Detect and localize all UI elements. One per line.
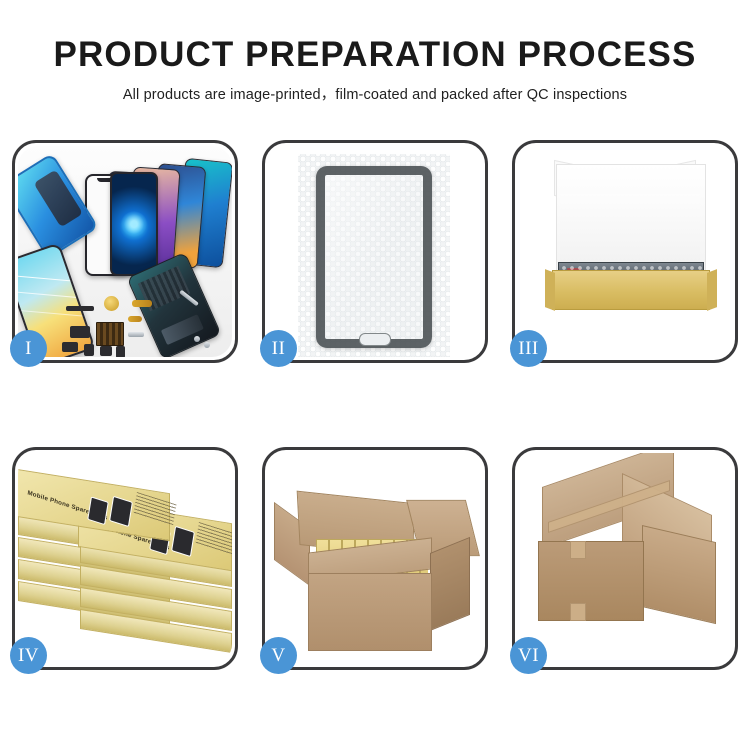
box-label-phone-image-2 — [171, 526, 195, 557]
step-1-badge: I — [10, 330, 47, 367]
process-step-1: I — [12, 140, 238, 363]
sealed-carton-side-panel — [642, 525, 716, 624]
product-preparation-infographic: PRODUCT PREPARATION PROCESS All products… — [0, 0, 750, 750]
bubble-wrap-sheet — [298, 154, 450, 357]
page-subtitle: All products are image-printed，film-coat… — [0, 85, 750, 105]
step-1-photo — [18, 146, 232, 357]
process-step-2: II — [262, 140, 488, 363]
phone-jellyfish-wallpaper — [110, 172, 158, 276]
box-stack: Mobile Phone Spare Parts Mobile Phone Sp… — [18, 471, 232, 661]
part-bracket — [128, 332, 144, 337]
carton-tape-front-bottom — [570, 603, 586, 621]
step-3-photo — [518, 146, 732, 357]
part-chip-array — [96, 322, 124, 346]
step-2-badge: II — [260, 330, 297, 367]
part-camera-module — [100, 346, 112, 356]
box-label-spec-lines-back — [134, 492, 177, 526]
process-step-5: V — [262, 447, 488, 670]
process-step-4: Mobile Phone Spare Parts Mobile Phone Sp… — [12, 447, 238, 670]
part-connector-1 — [70, 326, 90, 338]
part-connector-2 — [62, 342, 78, 352]
process-step-3: III — [512, 140, 738, 363]
step-2-photo — [268, 146, 482, 357]
part-speaker-gold — [104, 296, 119, 311]
process-step-6: VI — [512, 447, 738, 670]
step-5-badge: V — [260, 637, 297, 674]
step-4-photo: Mobile Phone Spare Parts Mobile Phone Sp… — [18, 453, 232, 664]
part-button-set — [84, 344, 94, 356]
box-label-spec-lines-front — [196, 522, 232, 556]
sealed-carton-front-panel — [538, 541, 644, 621]
box-label-phone-image-4 — [109, 496, 133, 527]
box-label-phone-image-3 — [87, 496, 109, 525]
process-row-2: Mobile Phone Spare Parts Mobile Phone Sp… — [12, 447, 738, 670]
part-vibrator — [116, 346, 125, 357]
carton-tape-front-top — [570, 541, 586, 559]
part-flex-cable-2 — [128, 316, 142, 322]
step-6-badge: VI — [510, 637, 547, 674]
step-4-badge: IV — [10, 637, 47, 674]
part-screw-2 — [204, 342, 210, 348]
step-3-badge: III — [510, 330, 547, 367]
step-6-photo — [518, 453, 732, 664]
phone-glass-screen — [316, 166, 432, 348]
header: PRODUCT PREPARATION PROCESS All products… — [0, 0, 750, 105]
process-step-grid: I II — [12, 140, 738, 670]
step-5-photo — [268, 453, 482, 664]
carton-front-panel — [308, 573, 432, 651]
glass-gloss-highlight — [325, 175, 423, 339]
process-row-1: I II — [12, 140, 738, 363]
carton-side-panel — [430, 537, 470, 631]
page-title: PRODUCT PREPARATION PROCESS — [0, 35, 750, 75]
part-flex-cable-1 — [132, 300, 152, 307]
kraft-box-base — [552, 270, 710, 310]
part-antenna-strip — [66, 306, 94, 311]
part-screw-1 — [194, 336, 200, 342]
